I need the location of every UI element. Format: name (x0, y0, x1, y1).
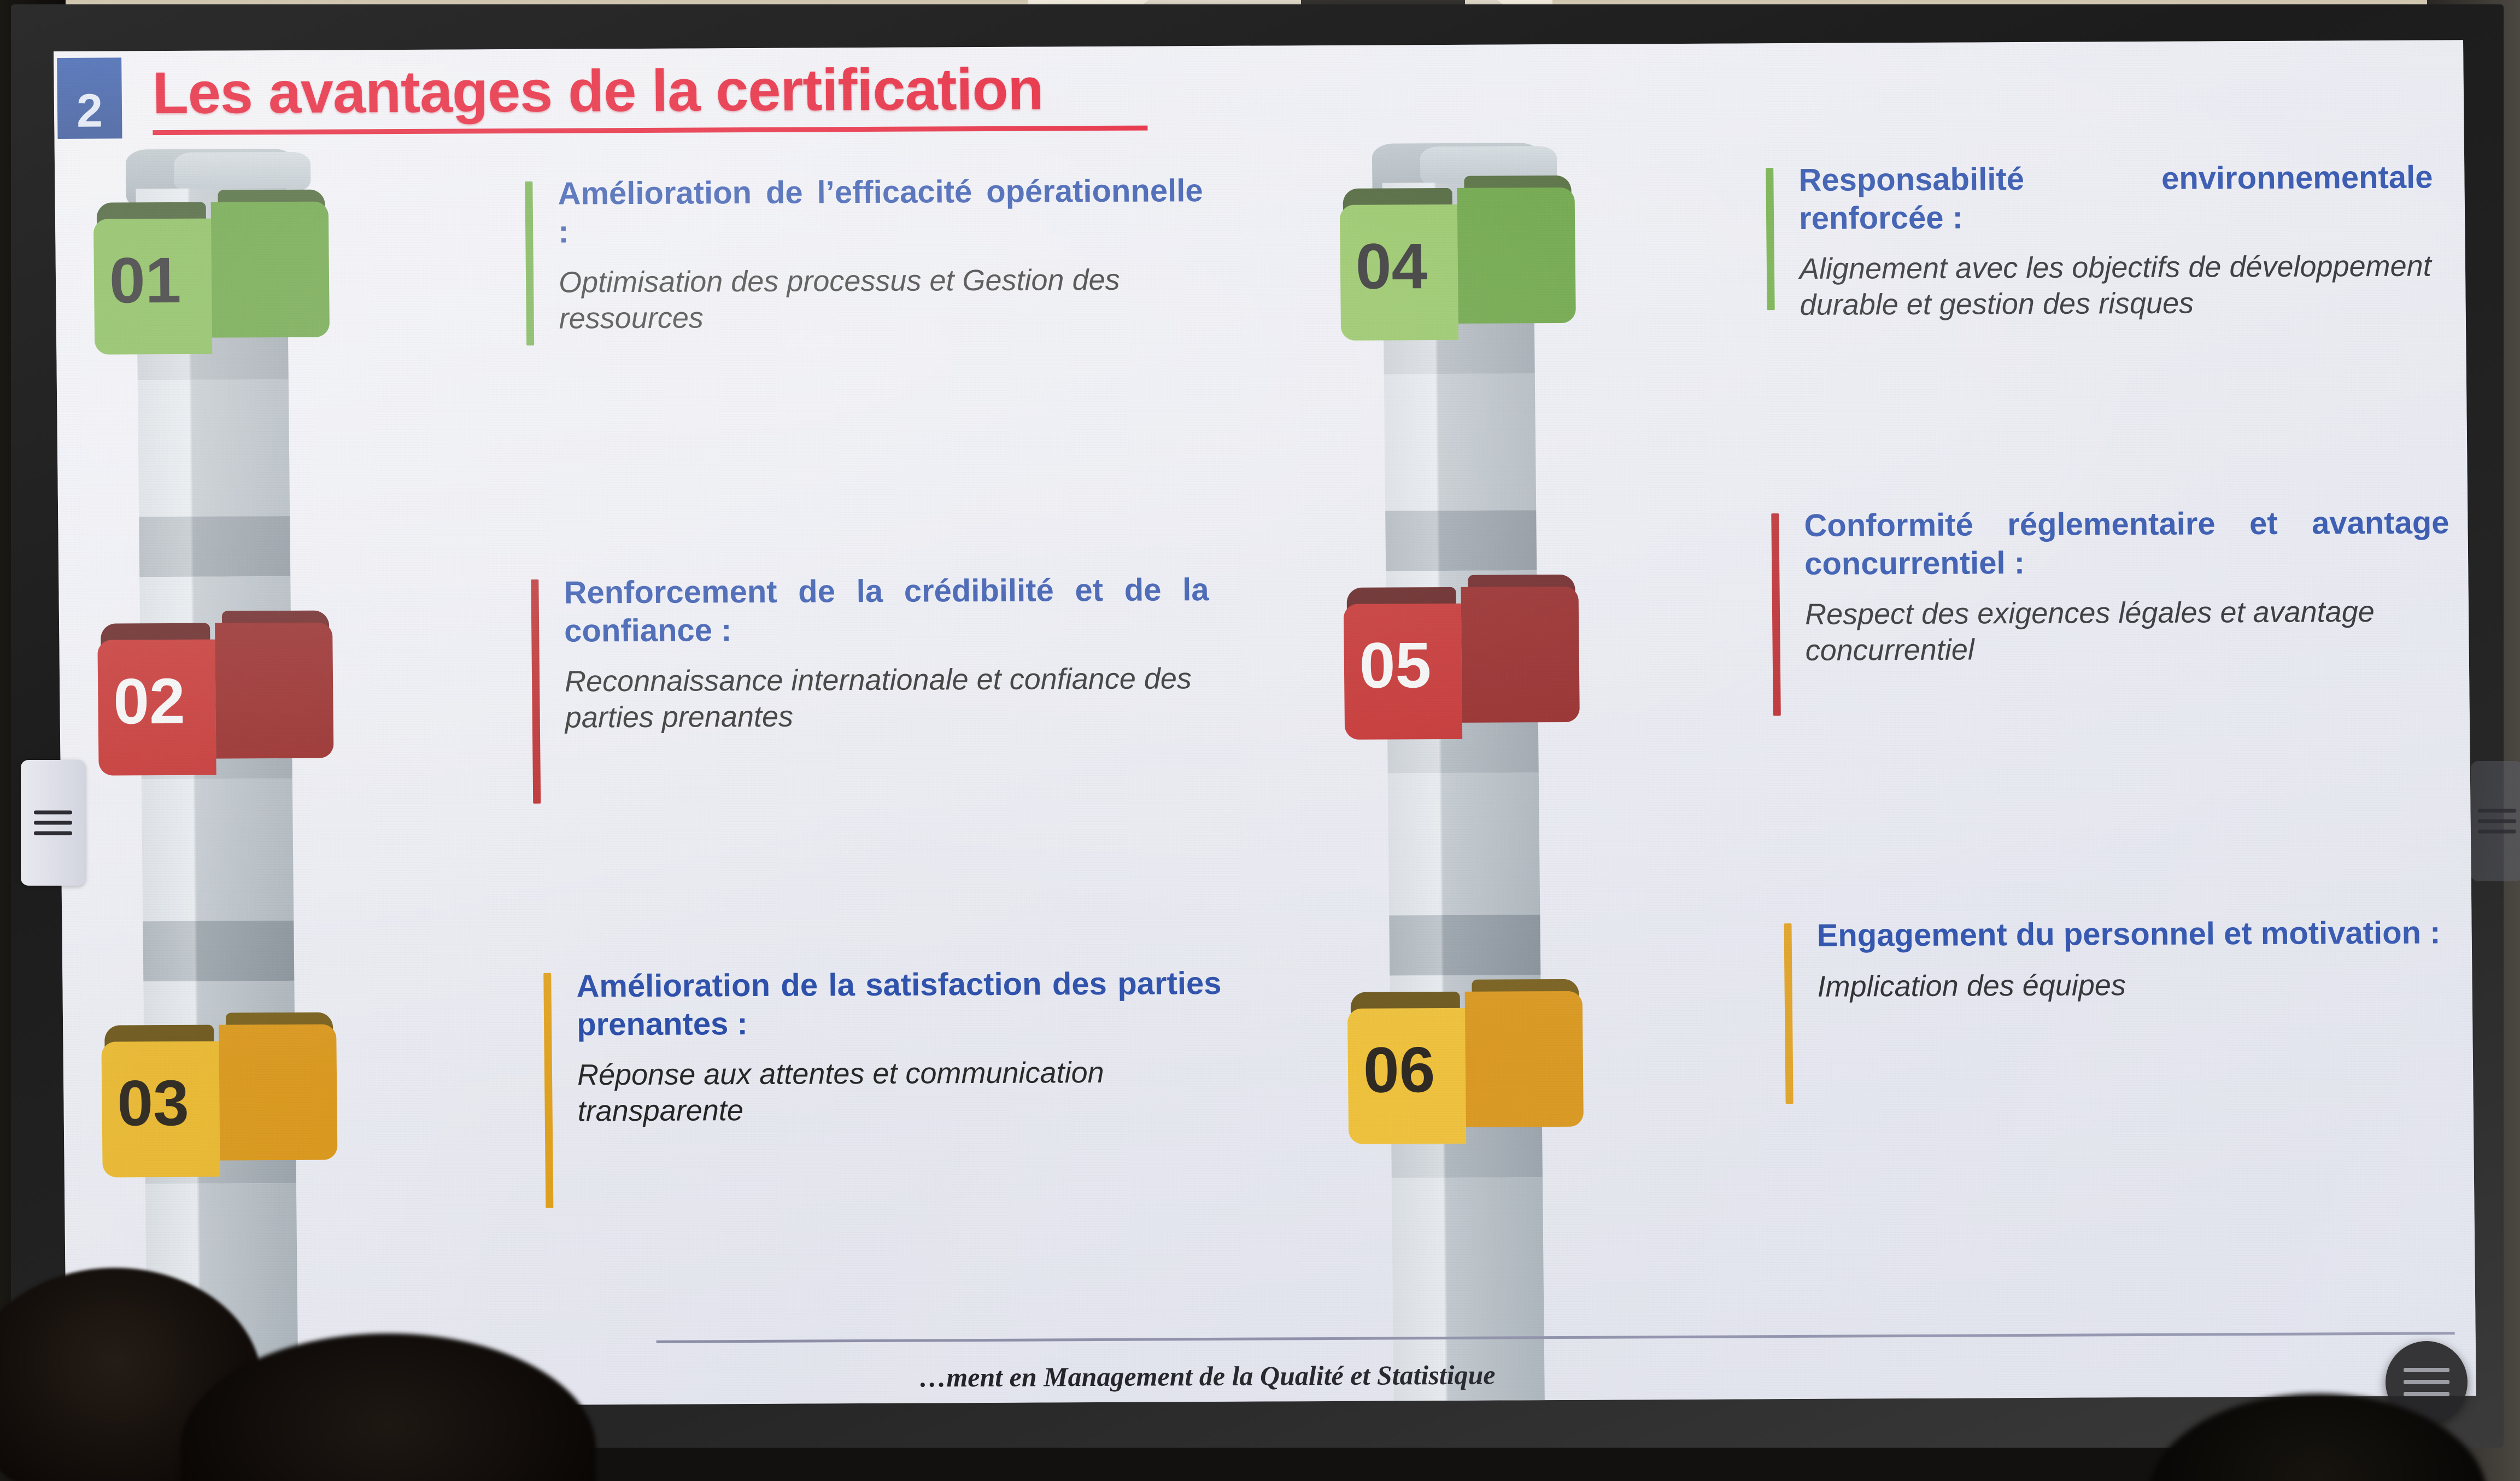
pillar-number-04: 04 (1355, 234, 1465, 299)
item-02: Renforcement de la crédibilité et de la … (564, 571, 1210, 736)
item-06: Engagement du personnel et motivation : … (1816, 914, 2463, 1005)
item-05: Conformité réglementaire et avantage con… (1804, 504, 2451, 669)
item-01-body: Optimisation des processus et Gestion de… (559, 262, 1204, 337)
pillar-shaft (136, 188, 298, 1407)
pillar-collar-03: 03 (101, 1012, 338, 1178)
slide-number-chip: 2 (57, 57, 122, 139)
hamburger-icon (2478, 803, 2516, 840)
item-04-heading: Responsabilité environnementale renforcé… (1798, 158, 2433, 237)
accent-bar-02 (531, 579, 541, 804)
hamburger-icon (2404, 1360, 2449, 1404)
pillar-right: 04 05 (1339, 143, 1586, 1401)
accent-bar-05 (1771, 513, 1781, 716)
accent-bar-06 (1784, 923, 1793, 1104)
television: 2 Les avantages de la certification (11, 4, 2504, 1448)
page-title: Les avantages de la certification (152, 54, 1147, 127)
item-05-body: Respect des exigences légales et avantag… (1805, 594, 2451, 669)
item-03: Amélioration de la satisfaction des part… (576, 964, 1223, 1129)
pillar-collar-06: 06 (1347, 979, 1584, 1144)
slide-number: 2 (77, 87, 103, 134)
item-01-heading: Amélioration de l’efficacité opérationne… (558, 172, 1203, 251)
presentation-slide: 2 Les avantages de la certification (54, 40, 2476, 1407)
title-block: Les avantages de la certification (152, 54, 1147, 136)
pillar-shaft (1382, 182, 1544, 1401)
column-right: 04 05 (1328, 138, 2466, 1401)
pillar-number-06: 06 (1363, 1038, 1473, 1103)
pillar-number-02: 02 (113, 669, 223, 734)
accent-bar-01 (525, 182, 534, 346)
title-underline (153, 126, 1147, 136)
pillar-collar-05: 05 (1343, 575, 1580, 740)
item-04: Responsabilité environnementale renforcé… (1798, 158, 2434, 323)
item-01: Amélioration de l’efficacité opérationne… (558, 172, 1204, 337)
left-menu-handle[interactable] (21, 760, 85, 886)
pillar-number-03: 03 (117, 1071, 227, 1136)
room-photo: 2 Les avantages de la certification (0, 0, 2520, 1481)
pillar-number-01: 01 (109, 248, 219, 313)
accent-bar-03 (543, 973, 553, 1208)
item-06-heading: Engagement du personnel et motivation : (1816, 914, 2462, 955)
item-05-heading: Conformité réglementaire et avantage con… (1804, 504, 2449, 583)
item-03-heading: Amélioration de la satisfaction des part… (576, 964, 1222, 1044)
right-menu-handle[interactable] (2471, 761, 2520, 881)
pillar-collar-04: 04 (1339, 175, 1576, 341)
item-04-body: Alignement avec les objectifs de dévelop… (1800, 249, 2434, 324)
item-06-body: Implication des équipes (1817, 966, 2463, 1005)
pillar-number-05: 05 (1359, 633, 1469, 698)
pillar-left: 01 02 (93, 149, 340, 1407)
pillar-collar-02: 02 (97, 611, 334, 776)
accent-bar-04 (1766, 168, 1774, 310)
item-02-body: Reconnaissance internationale et confian… (565, 661, 1210, 736)
item-03-body: Réponse aux attentes et communication tr… (577, 1055, 1223, 1129)
item-02-heading: Renforcement de la crédibilité et de la … (564, 571, 1209, 650)
pillar-collar-01: 01 (93, 190, 330, 355)
column-left: 01 02 (77, 144, 1247, 1407)
tv-screen: 2 Les avantages de la certification (54, 40, 2476, 1407)
hamburger-icon (34, 804, 72, 842)
